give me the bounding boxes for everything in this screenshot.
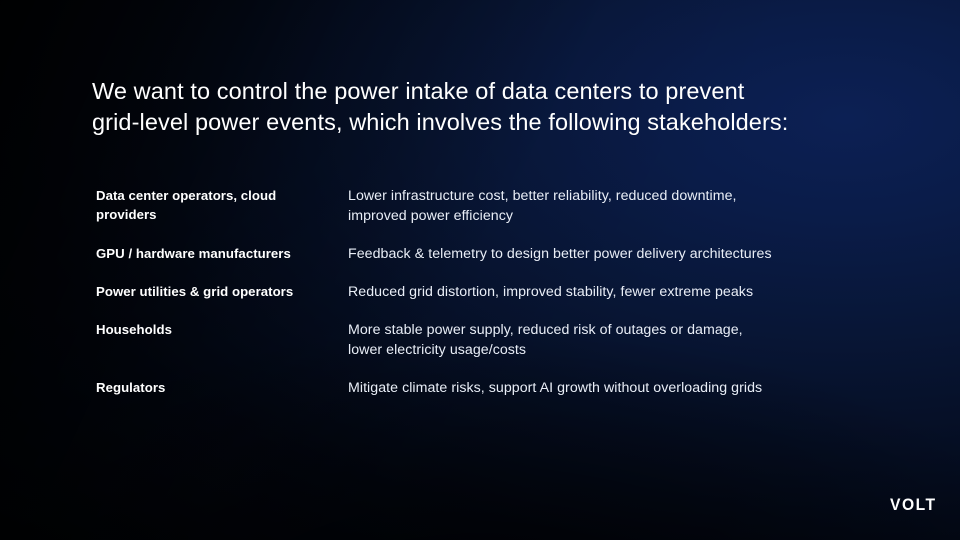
stakeholder-label: Households <box>96 320 348 339</box>
stakeholder-benefit: Reduced grid distortion, improved stabil… <box>348 282 886 302</box>
stakeholder-benefit: More stable power supply, reduced risk o… <box>348 320 886 360</box>
stakeholders-table: Data center operators, cloud providers L… <box>96 186 886 398</box>
stakeholder-benefit: Lower infrastructure cost, better reliab… <box>348 186 886 226</box>
stakeholder-label: GPU / hardware manufacturers <box>96 244 348 263</box>
table-row: Data center operators, cloud providers L… <box>96 186 886 226</box>
stakeholder-label: Data center operators, cloud providers <box>96 186 348 224</box>
table-row: Regulators Mitigate climate risks, suppo… <box>96 378 886 398</box>
table-row: GPU / hardware manufacturers Feedback & … <box>96 244 886 264</box>
table-row: Power utilities & grid operators Reduced… <box>96 282 886 302</box>
table-row: Households More stable power supply, red… <box>96 320 886 360</box>
stakeholder-label: Regulators <box>96 378 348 397</box>
slide-title: We want to control the power intake of d… <box>92 76 882 138</box>
stakeholder-benefit: Mitigate climate risks, support AI growt… <box>348 378 886 398</box>
stakeholder-label: Power utilities & grid operators <box>96 282 348 301</box>
stakeholder-benefit: Feedback & telemetry to design better po… <box>348 244 886 264</box>
volt-logo: VOLT <box>890 495 936 515</box>
slide-content: We want to control the power intake of d… <box>0 0 960 540</box>
presentation-slide: We want to control the power intake of d… <box>0 0 960 540</box>
